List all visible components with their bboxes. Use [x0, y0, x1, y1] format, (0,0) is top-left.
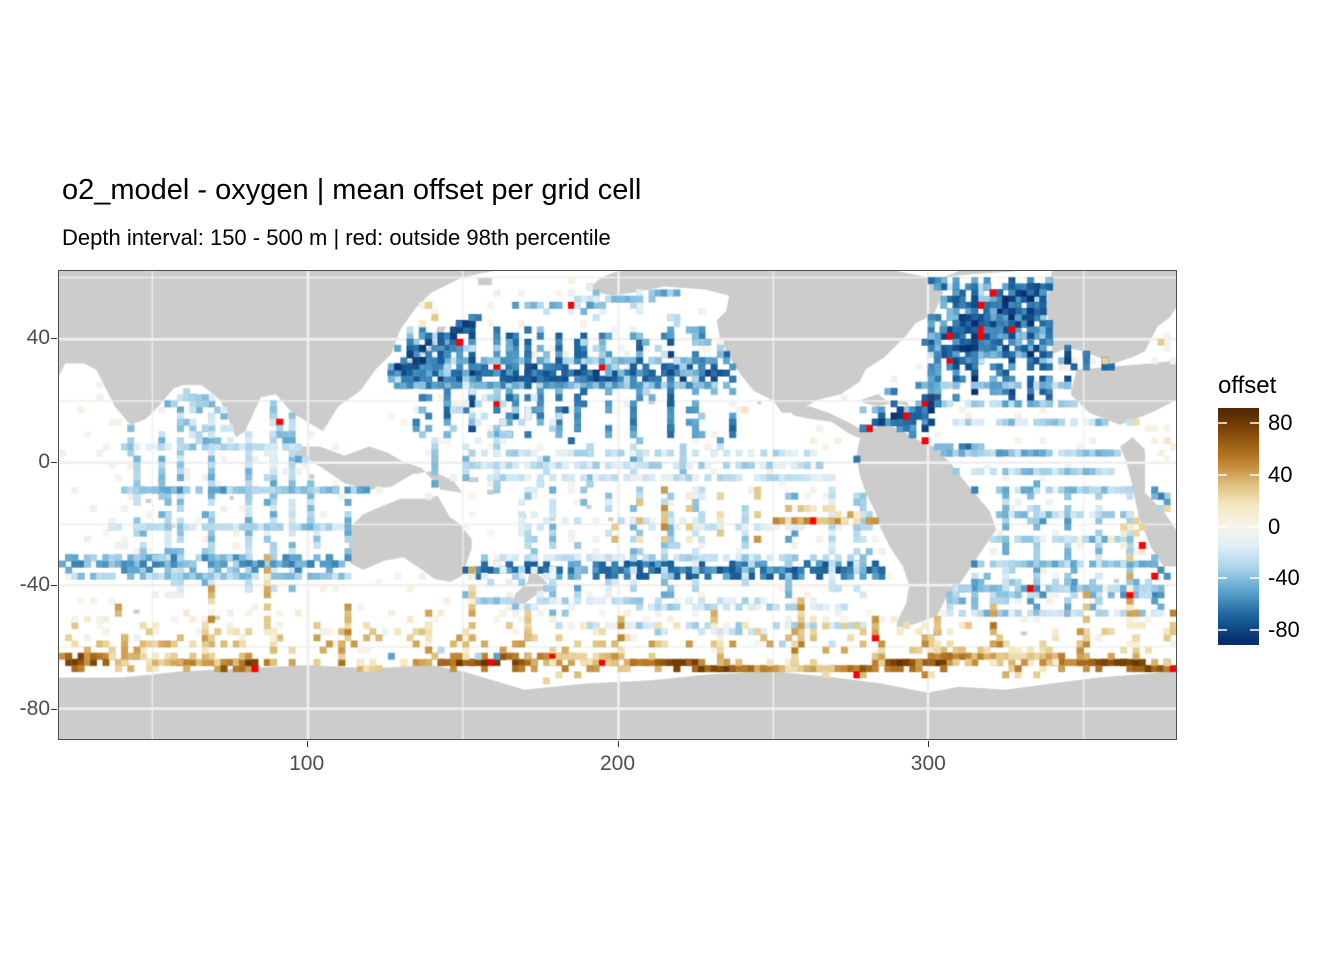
- x-tick-mark-1: [618, 741, 619, 747]
- y-tick-mark-0: [51, 338, 57, 339]
- legend-tick-1: [1218, 474, 1259, 476]
- legend-tick-0: [1218, 422, 1259, 424]
- y-axis: 400-40-80: [0, 0, 50, 960]
- y-tick-label-1: 0: [38, 450, 50, 474]
- legend-label-2: 0: [1268, 514, 1280, 540]
- y-tick-label-2: -40: [20, 573, 50, 597]
- y-tick-mark-3: [51, 709, 57, 710]
- figure-root: o2_model - oxygen | mean offset per grid…: [0, 0, 1344, 960]
- legend-label-3: -40: [1268, 565, 1300, 591]
- legend-label-0: 80: [1268, 410, 1292, 436]
- x-tick-label-2: 300: [911, 752, 946, 776]
- legend-title: offset: [1218, 372, 1276, 400]
- y-tick-label-3: -80: [20, 697, 50, 721]
- x-tick-label-1: 200: [600, 752, 635, 776]
- map-heatmap-canvas: [59, 271, 1176, 739]
- x-tick-mark-0: [307, 741, 308, 747]
- chart-title: o2_model - oxygen | mean offset per grid…: [62, 173, 641, 207]
- x-tick-mark-2: [928, 741, 929, 747]
- y-tick-mark-2: [51, 585, 57, 586]
- legend-label-1: 40: [1268, 462, 1292, 488]
- legend-tick-4: [1218, 629, 1259, 631]
- legend-tick-3: [1218, 577, 1259, 579]
- map-panel: [58, 270, 1177, 740]
- x-tick-label-0: 100: [289, 752, 324, 776]
- y-tick-mark-1: [51, 462, 57, 463]
- y-tick-label-0: 40: [27, 326, 50, 350]
- chart-subtitle: Depth interval: 150 - 500 m | red: outsi…: [62, 225, 611, 251]
- legend-tick-2: [1218, 526, 1259, 528]
- legend-label-4: -80: [1268, 617, 1300, 643]
